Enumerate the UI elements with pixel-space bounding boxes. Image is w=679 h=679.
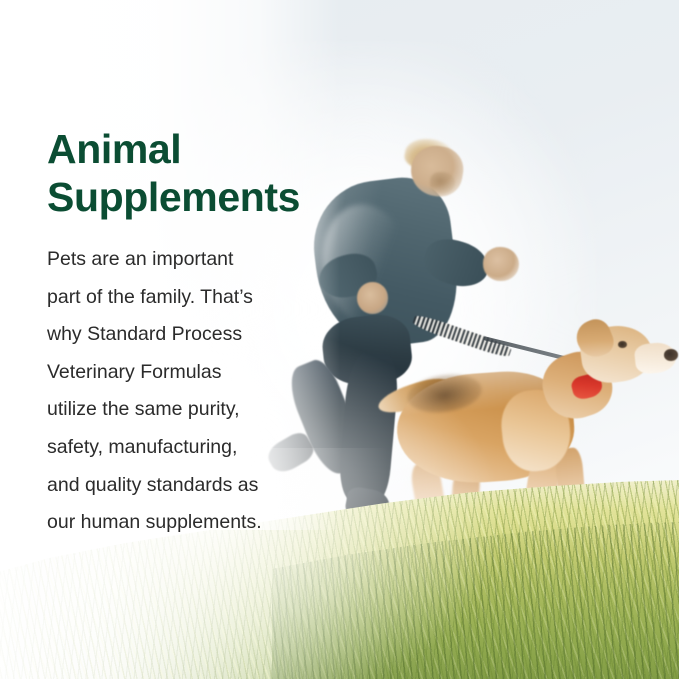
body-paragraph: Pets are an important part of the family… [47, 241, 337, 542]
page-title: Animal Supplements [47, 126, 337, 222]
animal-supplements-banner: Animal Supplements Pets are an important… [0, 0, 679, 679]
copy-block: Animal Supplements Pets are an important… [47, 126, 337, 542]
dog-nose [664, 349, 678, 361]
dog-eye [618, 341, 627, 348]
